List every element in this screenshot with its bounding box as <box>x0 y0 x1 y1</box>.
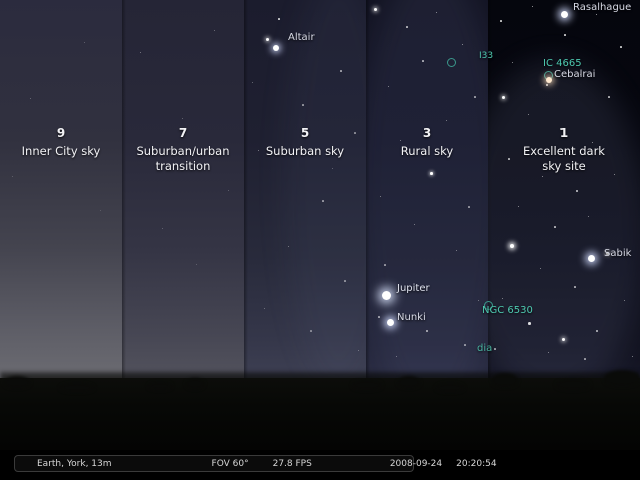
sky-gradient-5 <box>244 0 366 400</box>
status-fps: 27.8 FPS <box>273 459 312 469</box>
sky-view[interactable]: 9 Inner City sky 7 Suburban/urban transi… <box>0 0 640 400</box>
sky-panel-bortle-3[interactable]: 3 Rural sky <box>366 0 488 400</box>
sky-panel-bortle-1[interactable]: 1 Excellent dark sky site <box>488 0 640 400</box>
sky-panel-bortle-7[interactable]: 7 Suburban/urban transition <box>122 0 244 400</box>
status-date: 2008-09-24 <box>390 459 442 469</box>
status-bar[interactable]: Earth, York, 13m FOV 60° 27.8 FPS 2008-0… <box>14 455 414 472</box>
sky-gradient-9 <box>0 0 122 400</box>
status-location: Earth, York, 13m <box>37 459 112 469</box>
sky-panel-bortle-5[interactable]: 5 Suburban sky <box>244 0 366 400</box>
sky-gradient-3 <box>366 0 488 400</box>
sky-gradient-7 <box>122 0 244 400</box>
sky-gradient-1 <box>488 0 640 400</box>
status-time: 20:20:54 <box>456 459 496 469</box>
sky-panel-bortle-9[interactable]: 9 Inner City sky <box>0 0 122 400</box>
stellarium-window: 9 Inner City sky 7 Suburban/urban transi… <box>0 0 640 480</box>
status-fov: FOV 60° <box>212 459 249 469</box>
